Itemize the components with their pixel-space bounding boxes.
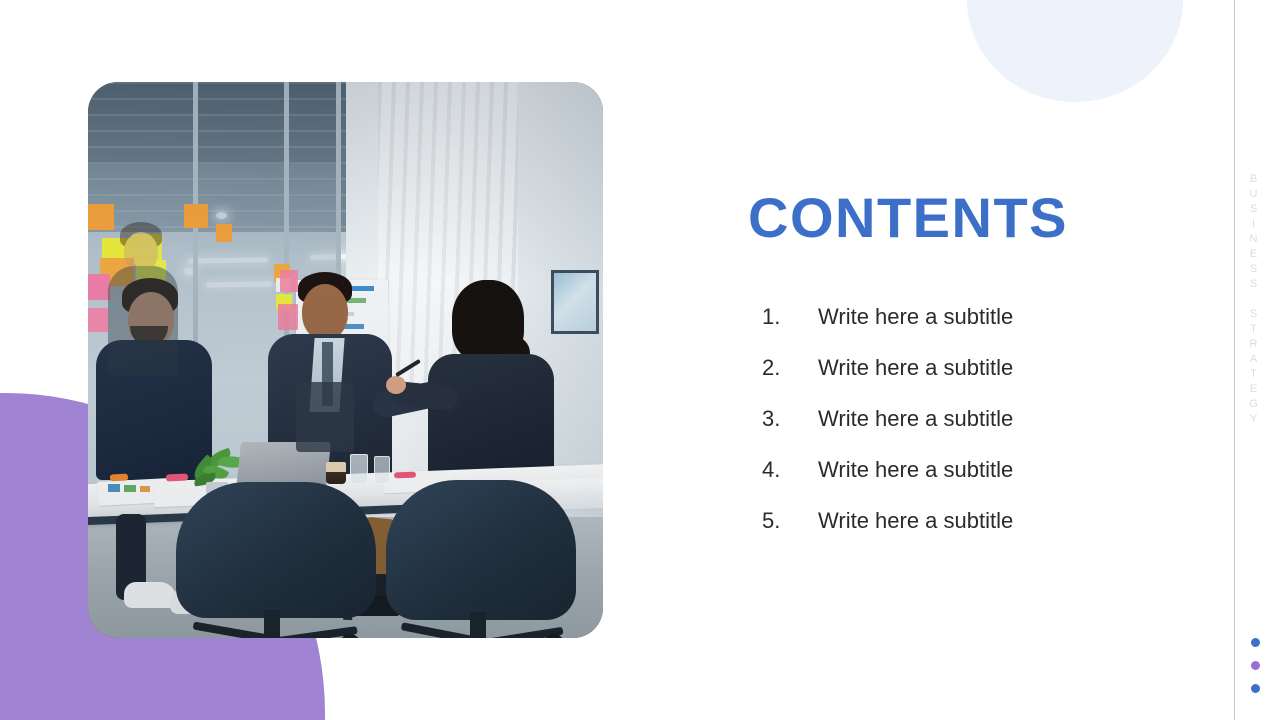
right-vertical-divider (1234, 0, 1235, 720)
list-item-label: Write here a subtitle (818, 453, 1013, 486)
office-meeting-photo (88, 82, 603, 638)
side-label: BUSINESS STRATEGY (1239, 130, 1267, 470)
framed-artwork (551, 270, 599, 334)
list-item[interactable]: 1. Write here a subtitle (748, 300, 1168, 333)
list-item[interactable]: 4. Write here a subtitle (748, 453, 1168, 486)
coffee-cup (326, 462, 346, 484)
list-item-label: Write here a subtitle (818, 504, 1013, 537)
sticky-note (88, 308, 108, 332)
list-item-number: 5. (748, 504, 818, 537)
office-chair-right (386, 480, 576, 620)
side-label-text: BUSINESS STRATEGY (1248, 173, 1259, 428)
chair-stem (470, 612, 486, 638)
head (302, 284, 348, 340)
background-chair (296, 382, 354, 452)
list-item[interactable]: 5. Write here a subtitle (748, 504, 1168, 537)
list-item-number: 3. (748, 402, 818, 435)
water-glass (350, 454, 368, 484)
presentation-slide: CONTENTS 1. Write here a subtitle 2. Wri… (0, 0, 1280, 720)
water-glass (374, 456, 390, 484)
page-dot-3[interactable] (1251, 684, 1260, 693)
list-item-label: Write here a subtitle (818, 351, 1013, 384)
list-item[interactable]: 2. Write here a subtitle (748, 351, 1168, 384)
sticky-note (184, 204, 208, 228)
sticky-note (88, 274, 110, 300)
page-dots (1251, 638, 1260, 693)
contents-list: 1. Write here a subtitle 2. Write here a… (748, 300, 1168, 537)
photo-scene (88, 82, 603, 638)
list-item-number: 1. (748, 300, 818, 333)
sticky-note (278, 304, 298, 330)
highlighter-marker (110, 474, 128, 482)
list-item-number: 2. (748, 351, 818, 384)
highlighter-marker (166, 473, 188, 481)
list-item-number: 4. (748, 453, 818, 486)
chart-on-paper (140, 486, 150, 492)
hand (386, 376, 406, 394)
list-item[interactable]: 3. Write here a subtitle (748, 402, 1168, 435)
sticky-note (216, 224, 232, 242)
chart-on-paper (124, 485, 136, 492)
slide-content: CONTENTS 1. Write here a subtitle 2. Wri… (748, 190, 1168, 555)
highlighter-marker (394, 472, 416, 479)
sticky-note (88, 204, 114, 230)
torso (108, 266, 178, 376)
page-dot-2[interactable] (1251, 661, 1260, 670)
page-title: CONTENTS (748, 190, 1168, 246)
sneaker (124, 582, 176, 608)
page-dot-1[interactable] (1251, 638, 1260, 647)
list-item-label: Write here a subtitle (818, 300, 1013, 333)
pale-blue-circle-decoration (967, 0, 1183, 102)
sticky-note (280, 270, 298, 292)
list-item-label: Write here a subtitle (818, 402, 1013, 435)
chart-on-paper (108, 484, 120, 492)
office-chair-left (176, 482, 376, 618)
